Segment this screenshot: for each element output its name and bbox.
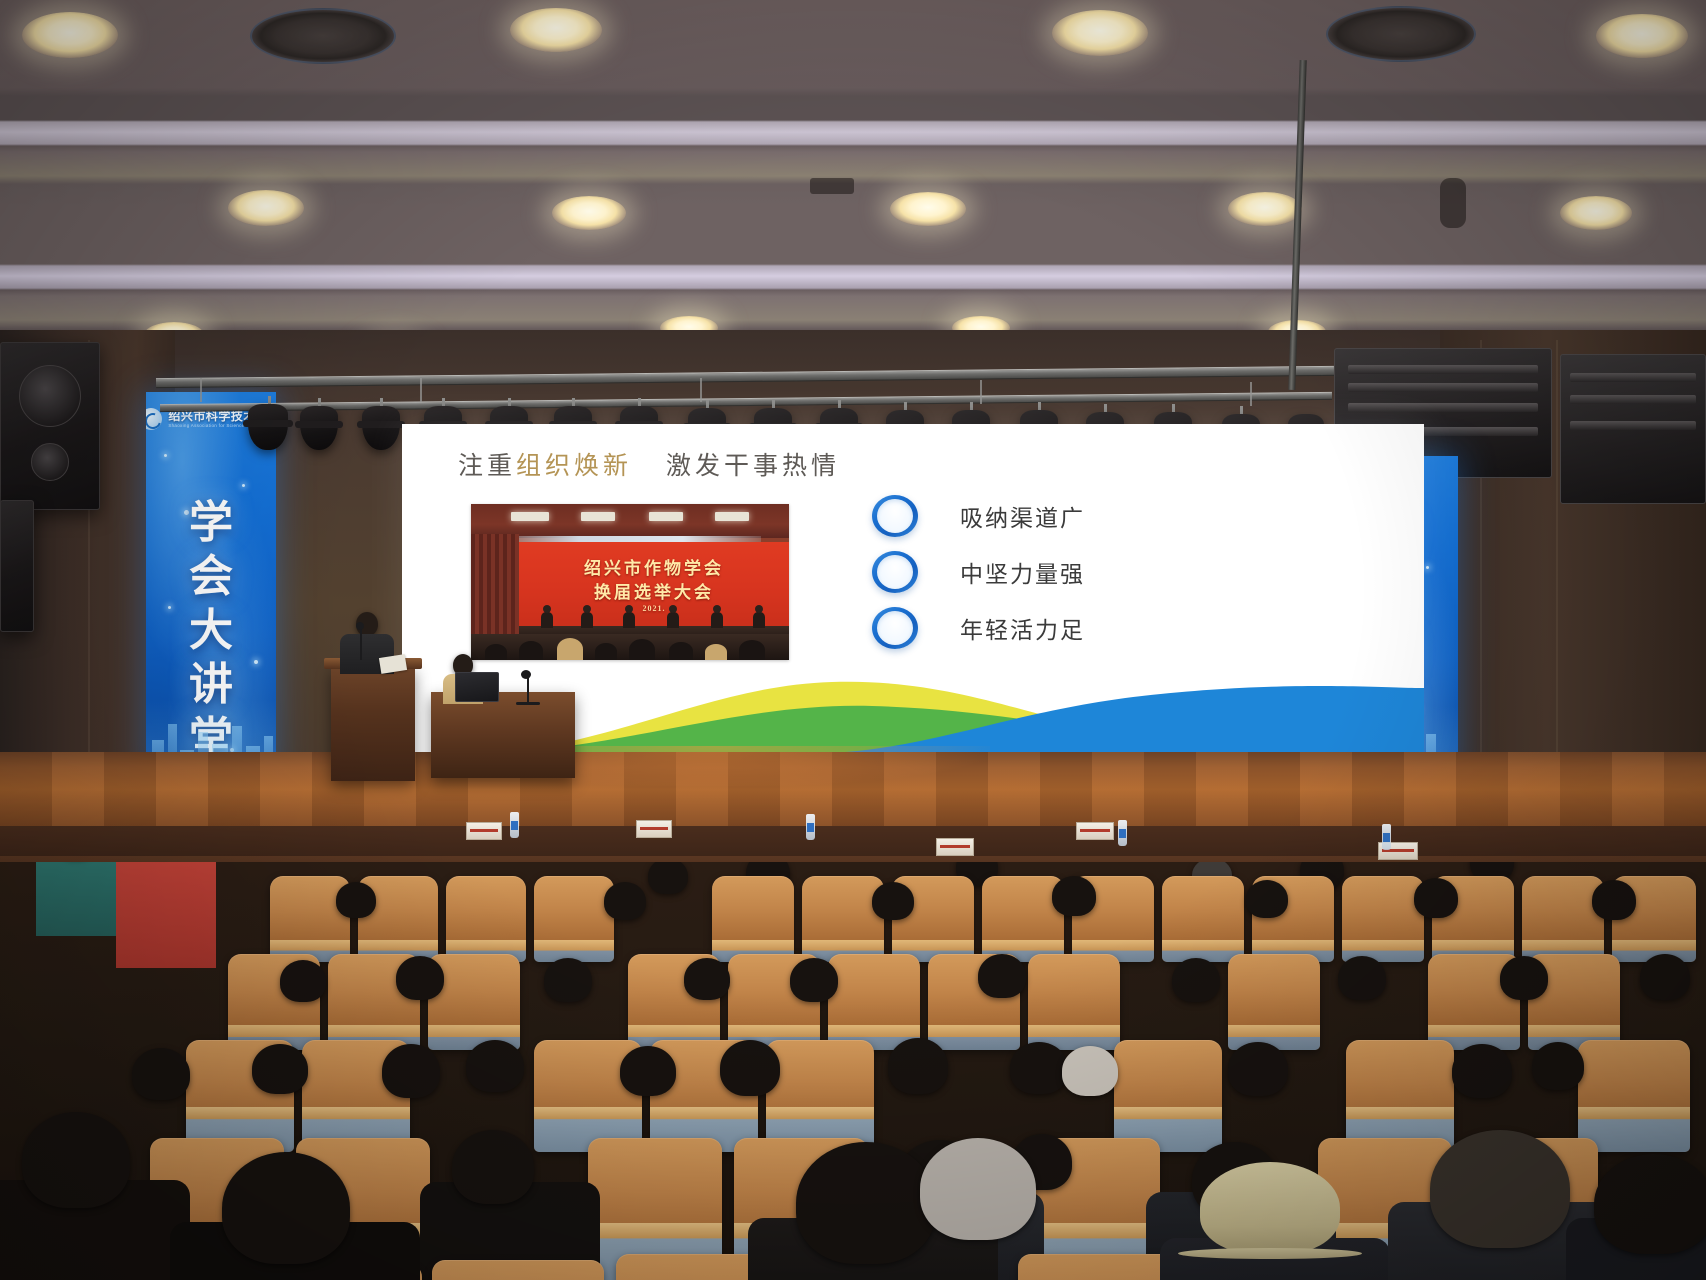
- audience-head: [604, 882, 646, 920]
- table-microphone-head: [521, 670, 531, 679]
- photo-audience-head: [739, 640, 765, 660]
- photo-audience-head: [595, 643, 617, 660]
- banner-left-char-0: 学: [189, 496, 233, 550]
- audience-head: [132, 1048, 190, 1100]
- photo-ceiling: [471, 504, 789, 538]
- photo-audience-head: [485, 644, 507, 660]
- par-can-light: [248, 404, 288, 450]
- water-bottle: [1382, 824, 1391, 850]
- blue-ring-icon: [872, 551, 918, 593]
- audience-head: [1430, 1130, 1570, 1248]
- slide-bullet-text: 吸纳渠道广: [960, 499, 1085, 533]
- audience-head: [1500, 956, 1548, 1000]
- banner-left-char-2: 大: [189, 604, 233, 658]
- audience-head: [620, 1046, 676, 1096]
- audience-head: [452, 1130, 534, 1204]
- slide-title-part-1: 注重: [458, 453, 516, 480]
- podium-microphone-head: [356, 622, 364, 630]
- downlight: [510, 8, 602, 52]
- downlight: [1560, 196, 1632, 230]
- name-card: [636, 820, 672, 838]
- audience-head: [796, 1142, 936, 1264]
- photo-seated-person: [623, 612, 635, 628]
- slide-embedded-photo: 绍兴市作物学会 换届选举大会 2021.: [471, 504, 789, 660]
- audience-hat: [1200, 1162, 1340, 1254]
- photo-banner-line-2: 换届选举大会: [519, 578, 789, 603]
- audience-head: [1532, 1042, 1584, 1090]
- audience-head: [466, 1040, 524, 1092]
- audience-head: [252, 1044, 308, 1094]
- audience-head: [336, 882, 376, 918]
- downlight: [22, 12, 118, 58]
- water-bottle: [806, 814, 815, 840]
- banner-left: 绍兴市科学技术协会 Shaoxing Association for Scien…: [146, 392, 276, 780]
- audience-head: [920, 1138, 1036, 1240]
- truss-web: [980, 380, 982, 404]
- photo-banner-line-1: 绍兴市作物学会: [519, 554, 789, 579]
- audience-chair: [270, 876, 350, 962]
- photo-seated-person: [541, 612, 553, 628]
- photo-audience-head: [669, 642, 693, 660]
- blue-ring-icon: [872, 607, 918, 649]
- audience-head: [280, 960, 326, 1002]
- ceiling-fan-icon: [250, 8, 396, 64]
- audience-head: [684, 958, 730, 1000]
- audience-seating: [0, 862, 1706, 1280]
- photo-audience-head: [557, 638, 583, 660]
- audience-head: [544, 958, 592, 1002]
- slide-bullet-text: 年轻活力足: [960, 611, 1085, 645]
- photo-seated-person: [711, 612, 723, 628]
- audience-head: [1338, 956, 1386, 1000]
- equipment-rack-far-right: [1560, 354, 1706, 504]
- name-card: [466, 822, 502, 840]
- slide-bullet-item: 吸纳渠道广: [872, 488, 1085, 544]
- audience-head: [1172, 958, 1220, 1002]
- standing-person-red: [116, 862, 216, 968]
- audience-head: [1594, 1154, 1706, 1254]
- audience-chair: [828, 954, 920, 1050]
- podium: [331, 666, 415, 781]
- truss-web: [1250, 382, 1252, 406]
- slide-bullet-item: 年轻活力足: [872, 600, 1085, 656]
- audience-head: [396, 956, 444, 1000]
- auditorium-scene: 绍兴市科学技术协会 Shaoxing Association for Scien…: [0, 0, 1706, 1280]
- slide-bullet-text: 中坚力量强: [960, 555, 1085, 589]
- audience-head: [1452, 1044, 1512, 1098]
- name-card: [936, 838, 974, 856]
- slide-bullet-list: 吸纳渠道广 中坚力量强 年轻活力足: [872, 488, 1085, 656]
- standing-person-teal: [36, 862, 120, 936]
- audience-chair: [432, 1260, 604, 1280]
- side-table: [431, 692, 575, 778]
- audience-head: [978, 954, 1026, 998]
- audience-head: [1414, 878, 1458, 918]
- audience-chair: [1522, 876, 1604, 962]
- wall-seam: [1556, 340, 1558, 810]
- audience-head: [888, 1038, 948, 1094]
- downlight: [1228, 192, 1302, 226]
- ceiling-vent: [1440, 178, 1466, 228]
- audience-head: [1228, 1042, 1288, 1096]
- banner-left-char-1: 会: [189, 550, 233, 604]
- photo-seated-person: [753, 612, 765, 628]
- ceiling-fan-icon: [1326, 6, 1476, 62]
- table-microphone-stem: [527, 676, 529, 704]
- audience-head: [382, 1044, 440, 1098]
- audience-chair: [1162, 876, 1244, 962]
- slide-bullet-item: 中坚力量强: [872, 544, 1085, 600]
- audience-chair: [1346, 1040, 1454, 1152]
- photo-banner-line-3: 2021.: [519, 604, 789, 613]
- photo-audience-head: [519, 641, 543, 660]
- audience-chair: [982, 876, 1064, 962]
- audience-chair: [446, 876, 526, 962]
- audience-head: [22, 1112, 130, 1208]
- truss-web: [700, 378, 702, 402]
- laptop: [455, 672, 499, 702]
- audience-chair: [534, 876, 614, 962]
- table-microphone-base: [516, 702, 540, 705]
- photo-seated-person: [581, 612, 593, 628]
- audience-head: [1062, 1046, 1118, 1096]
- downlight: [1596, 14, 1688, 58]
- audience-chair: [766, 1040, 874, 1152]
- audience-head: [648, 862, 688, 894]
- water-bottle: [1118, 820, 1127, 846]
- audience-head: [1052, 876, 1096, 916]
- audience-head: [1246, 880, 1288, 918]
- slide-title-part-2: 激发干事热情: [666, 453, 840, 480]
- audience-chair: [1028, 954, 1120, 1050]
- audience-chair: [1578, 1040, 1690, 1152]
- audience-head: [1640, 954, 1690, 1000]
- audience-head: [790, 958, 838, 1002]
- loudspeaker-left-lower: [0, 500, 34, 632]
- downlight: [890, 192, 966, 226]
- water-bottle: [510, 812, 519, 838]
- audience-chair: [712, 876, 794, 962]
- downlight: [228, 190, 304, 226]
- audience-chair: [1342, 876, 1424, 962]
- audience-head: [872, 882, 914, 920]
- audience-head: [1010, 1042, 1068, 1094]
- audience-head: [1592, 880, 1636, 920]
- slide-title-highlight: 组织焕新: [516, 453, 632, 480]
- podium-microphone: [360, 626, 362, 660]
- slide-title: 注重组织焕新激发干事热情: [458, 446, 840, 482]
- audience-head: [222, 1152, 350, 1264]
- truss-web: [200, 378, 202, 402]
- loudspeaker-left: [0, 342, 100, 510]
- truss-web: [420, 378, 422, 402]
- audience-chair: [802, 876, 884, 962]
- audience-chair: [1228, 954, 1320, 1050]
- photo-seated-person: [667, 612, 679, 628]
- audience-head: [720, 1040, 780, 1096]
- audience-chair: [1114, 1040, 1222, 1152]
- downlight: [552, 196, 626, 230]
- photo-audience-head: [629, 639, 655, 660]
- photo-red-banner: 绍兴市作物学会 换届选举大会 2021.: [519, 542, 789, 630]
- photo-audience-head: [705, 644, 727, 660]
- blue-ring-icon: [872, 495, 918, 537]
- downlight: [1052, 10, 1148, 56]
- name-card: [1076, 822, 1114, 840]
- ceiling-vent: [810, 178, 854, 194]
